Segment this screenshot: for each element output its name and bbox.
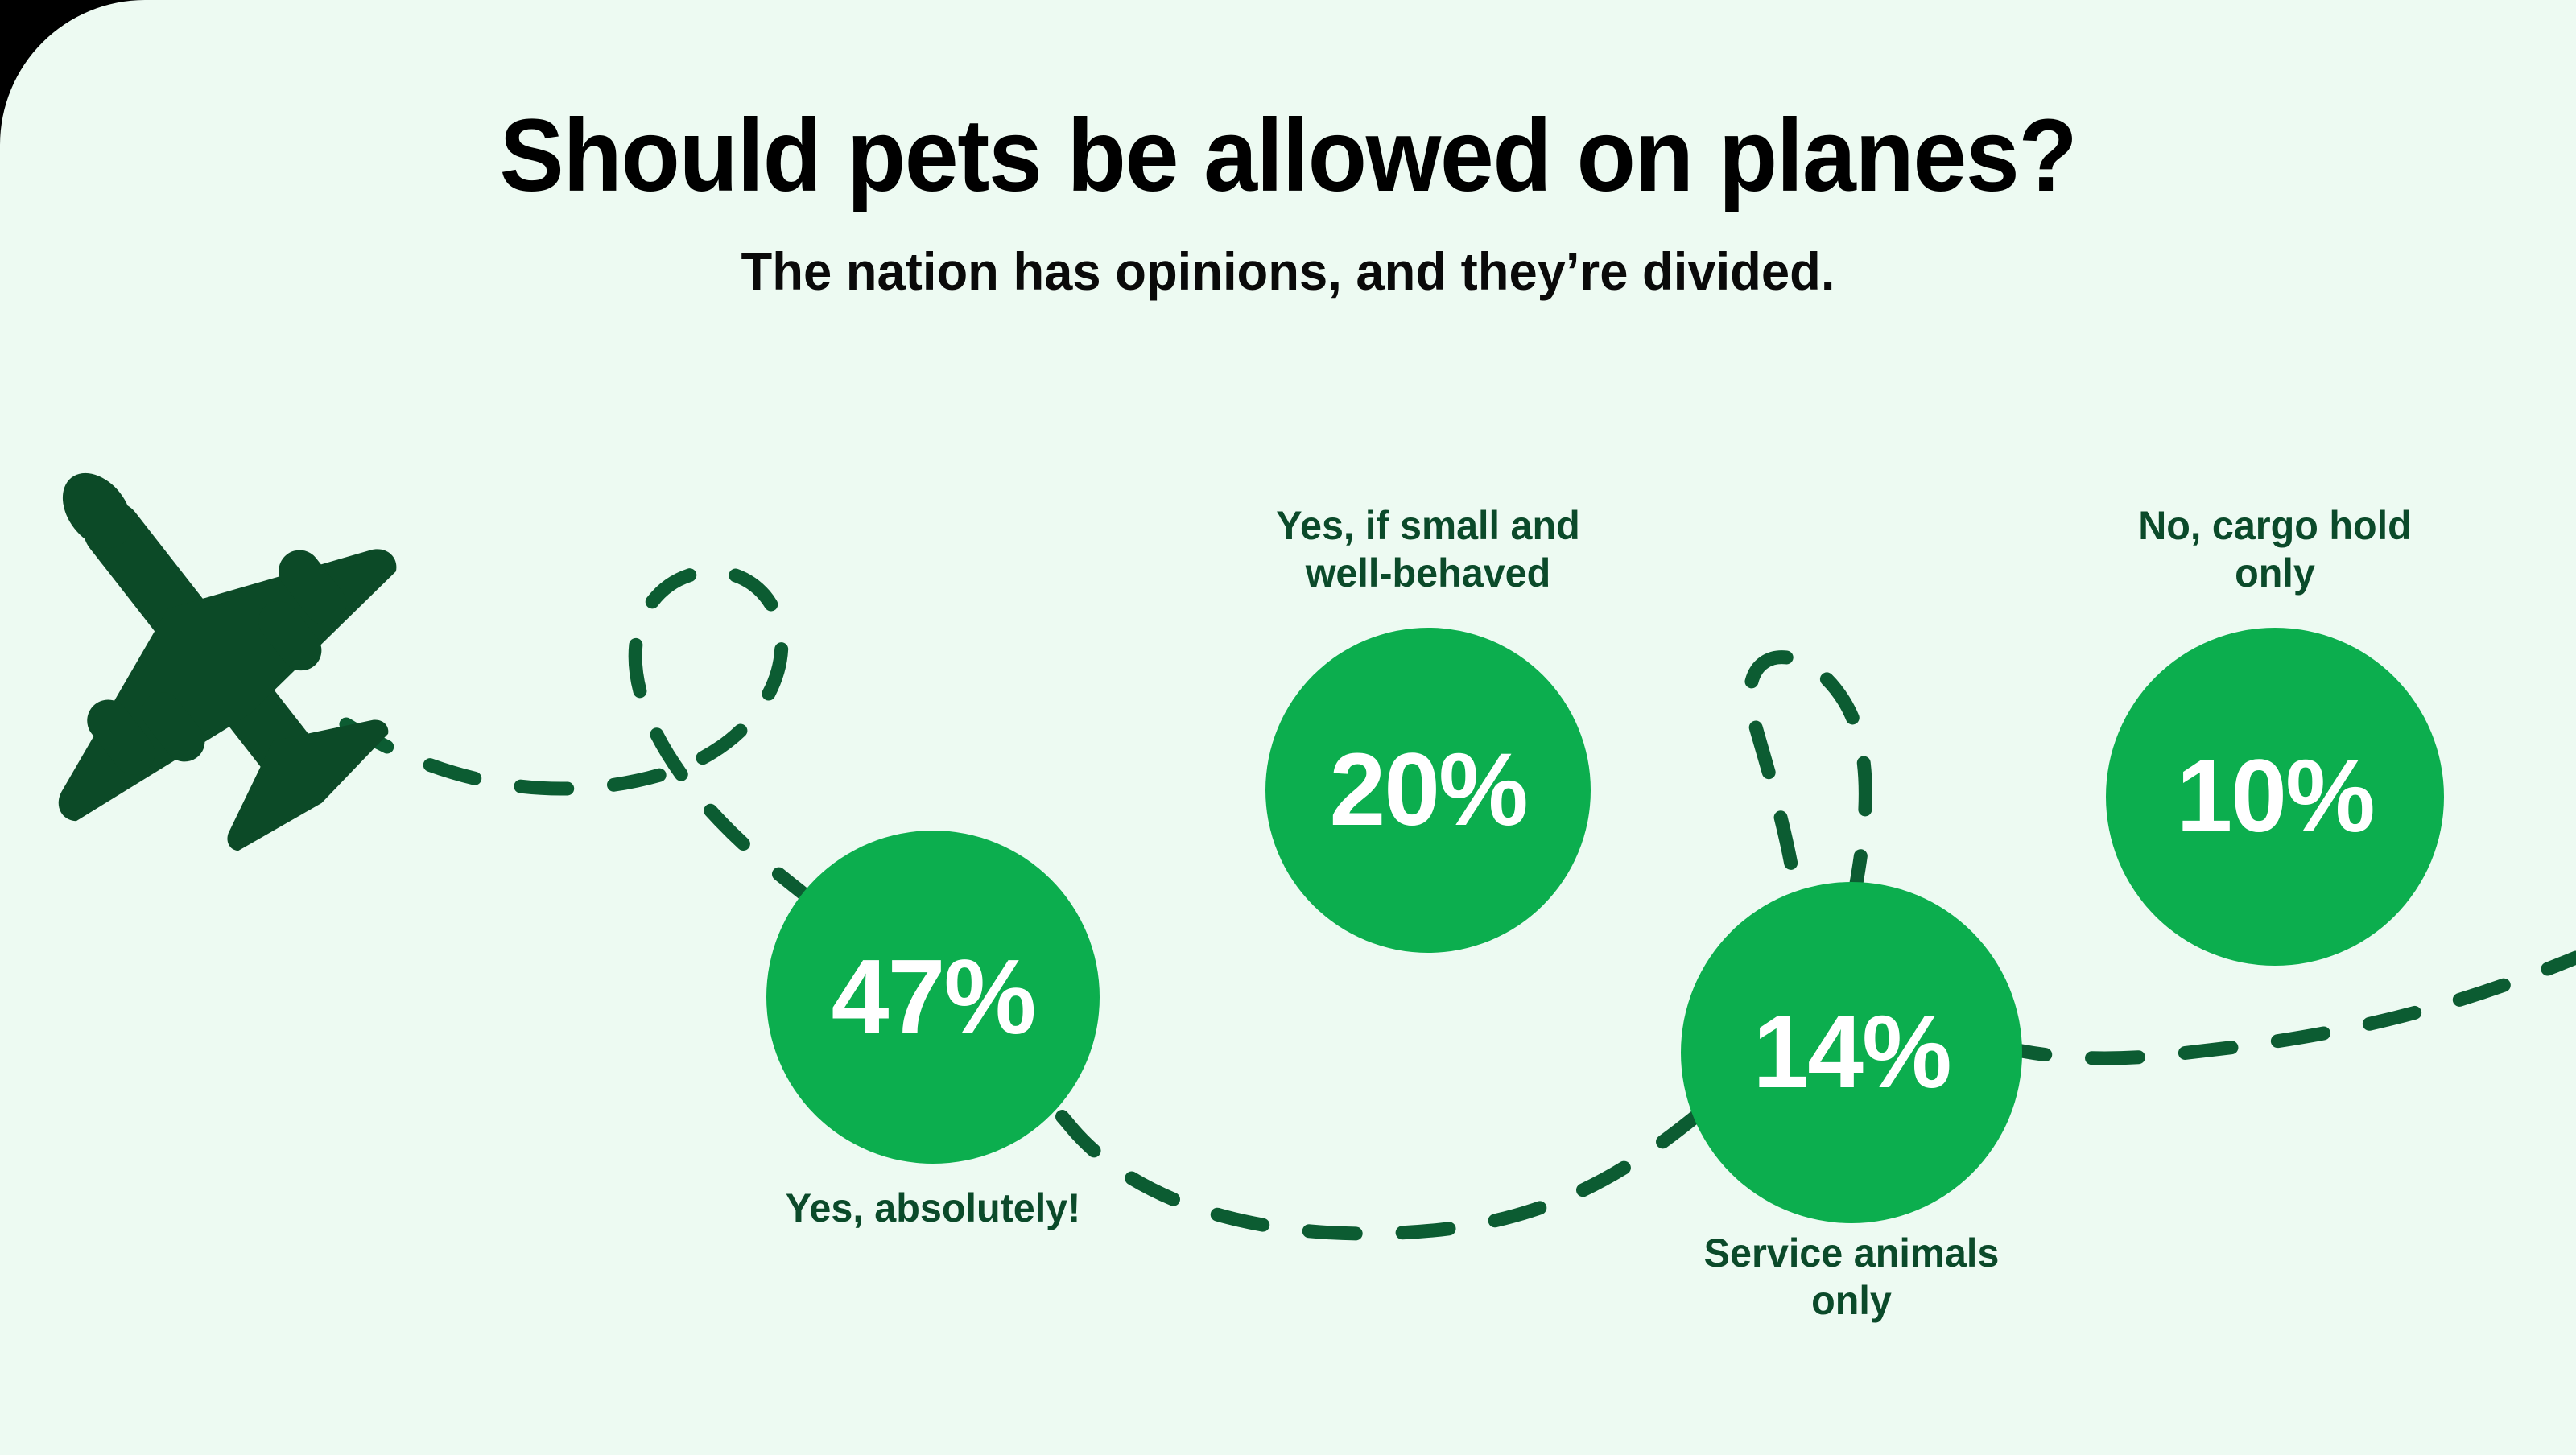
stat-value: 14% bbox=[1752, 1001, 1950, 1104]
stat-value: 10% bbox=[2176, 745, 2373, 848]
stat-bubble[interactable]: 14% bbox=[1681, 882, 2022, 1223]
stat-label: Yes, absolutely! bbox=[693, 1185, 1173, 1232]
stat-label: Service animals only bbox=[1625, 1230, 2079, 1325]
infographic-poster: Should pets be allowed on planes? The na… bbox=[0, 0, 2576, 1455]
stat-value: 47% bbox=[831, 944, 1034, 1050]
airplane-icon bbox=[0, 352, 485, 934]
stat-bubble[interactable]: 47% bbox=[766, 831, 1100, 1164]
stat-label: Yes, if small and well-behaved bbox=[1202, 502, 1655, 597]
stat-value: 20% bbox=[1329, 739, 1526, 842]
stat-bubble[interactable]: 20% bbox=[1265, 628, 1591, 953]
stat-bubble[interactable]: 10% bbox=[2106, 628, 2444, 966]
stat-label: No, cargo hold only bbox=[2049, 502, 2502, 597]
